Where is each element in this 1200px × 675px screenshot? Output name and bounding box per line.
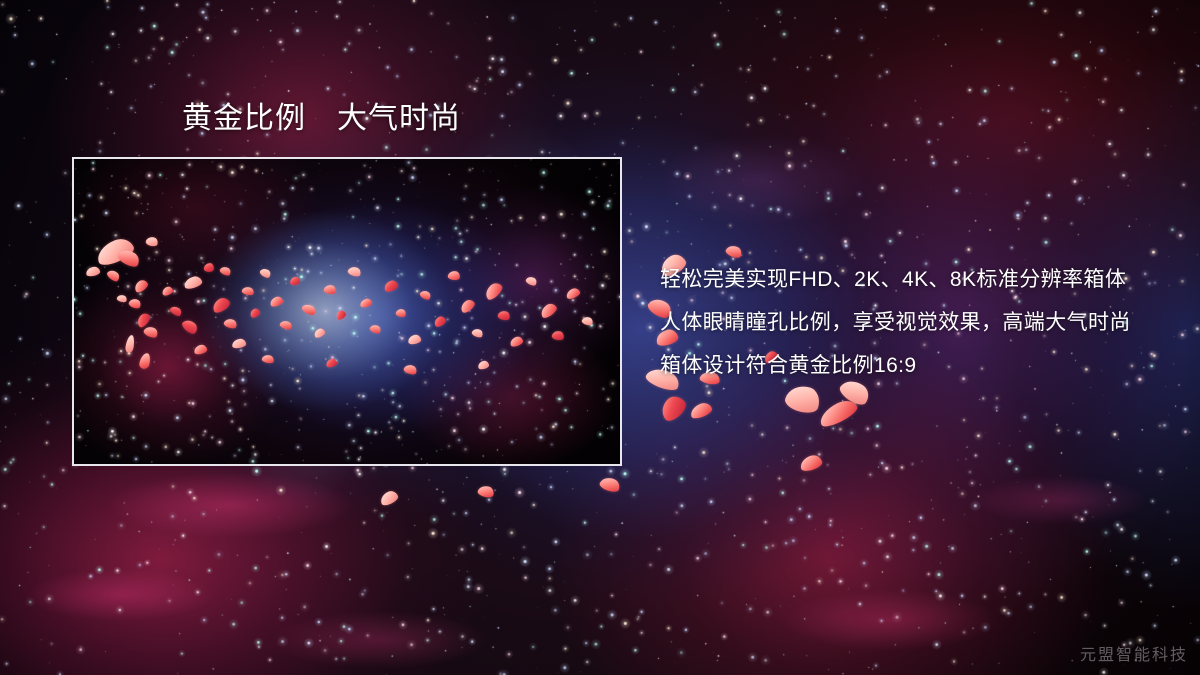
petal	[471, 327, 484, 339]
petal	[433, 315, 448, 329]
petal	[180, 317, 199, 336]
petal	[279, 319, 293, 331]
petal	[210, 295, 232, 314]
petal	[143, 324, 160, 339]
petal	[128, 297, 143, 310]
petal	[477, 360, 489, 370]
petal	[581, 315, 594, 326]
petal	[290, 276, 301, 285]
petal	[525, 275, 538, 287]
petal	[169, 304, 183, 317]
petal	[323, 284, 337, 296]
slide-root: 黄金比例 大气时尚 轻松完美实现FHD、2K、4K、8K标准分辨率箱体 人体眼睛…	[0, 0, 1200, 675]
petal	[132, 278, 149, 294]
petal	[538, 301, 558, 320]
floating-petals-inner	[74, 159, 620, 464]
petal	[116, 294, 128, 304]
petal	[106, 268, 122, 283]
body-line-3: 箱体设计符合黄金比例16:9	[660, 344, 1160, 387]
petal	[395, 308, 407, 319]
petal	[223, 317, 238, 330]
petal	[482, 280, 504, 302]
petal	[85, 266, 100, 277]
petal	[325, 358, 338, 369]
petal	[369, 323, 382, 335]
petal	[403, 363, 418, 376]
petal	[509, 335, 524, 348]
petal	[135, 311, 152, 329]
petal	[183, 275, 203, 291]
petal	[145, 236, 159, 248]
petal	[458, 298, 476, 315]
petal	[93, 235, 136, 269]
body-line-2: 人体眼睛瞳孔比例，享受视觉效果，高端大气时尚	[660, 301, 1160, 344]
petal	[313, 327, 326, 339]
petal	[269, 295, 284, 308]
petal	[204, 263, 215, 273]
body-line-1: 轻松完美实现FHD、2K、4K、8K标准分辨率箱体	[660, 258, 1160, 301]
body-copy: 轻松完美实现FHD、2K、4K、8K标准分辨率箱体 人体眼睛瞳孔比例，享受视觉效…	[660, 258, 1160, 387]
petal	[138, 352, 151, 370]
petal	[125, 335, 135, 354]
petal	[261, 354, 275, 365]
petal	[359, 298, 373, 309]
petal	[419, 289, 433, 302]
petal	[249, 307, 261, 319]
petal	[551, 330, 565, 341]
petal	[301, 302, 318, 317]
petal	[259, 267, 273, 280]
petal	[241, 286, 255, 297]
petal	[407, 334, 421, 345]
petal	[347, 265, 362, 278]
petal	[219, 265, 232, 277]
petal	[193, 344, 208, 356]
petal	[335, 309, 348, 321]
framed-photo	[72, 157, 622, 466]
petal	[231, 338, 246, 349]
petal	[383, 279, 400, 293]
petal	[116, 246, 142, 269]
petal	[565, 287, 581, 301]
petal	[447, 270, 460, 281]
petal	[497, 310, 511, 322]
watermark-logo-text: 元盟智能科技	[1080, 641, 1188, 665]
page-title: 黄金比例 大气时尚	[182, 103, 461, 135]
petal	[161, 285, 174, 296]
